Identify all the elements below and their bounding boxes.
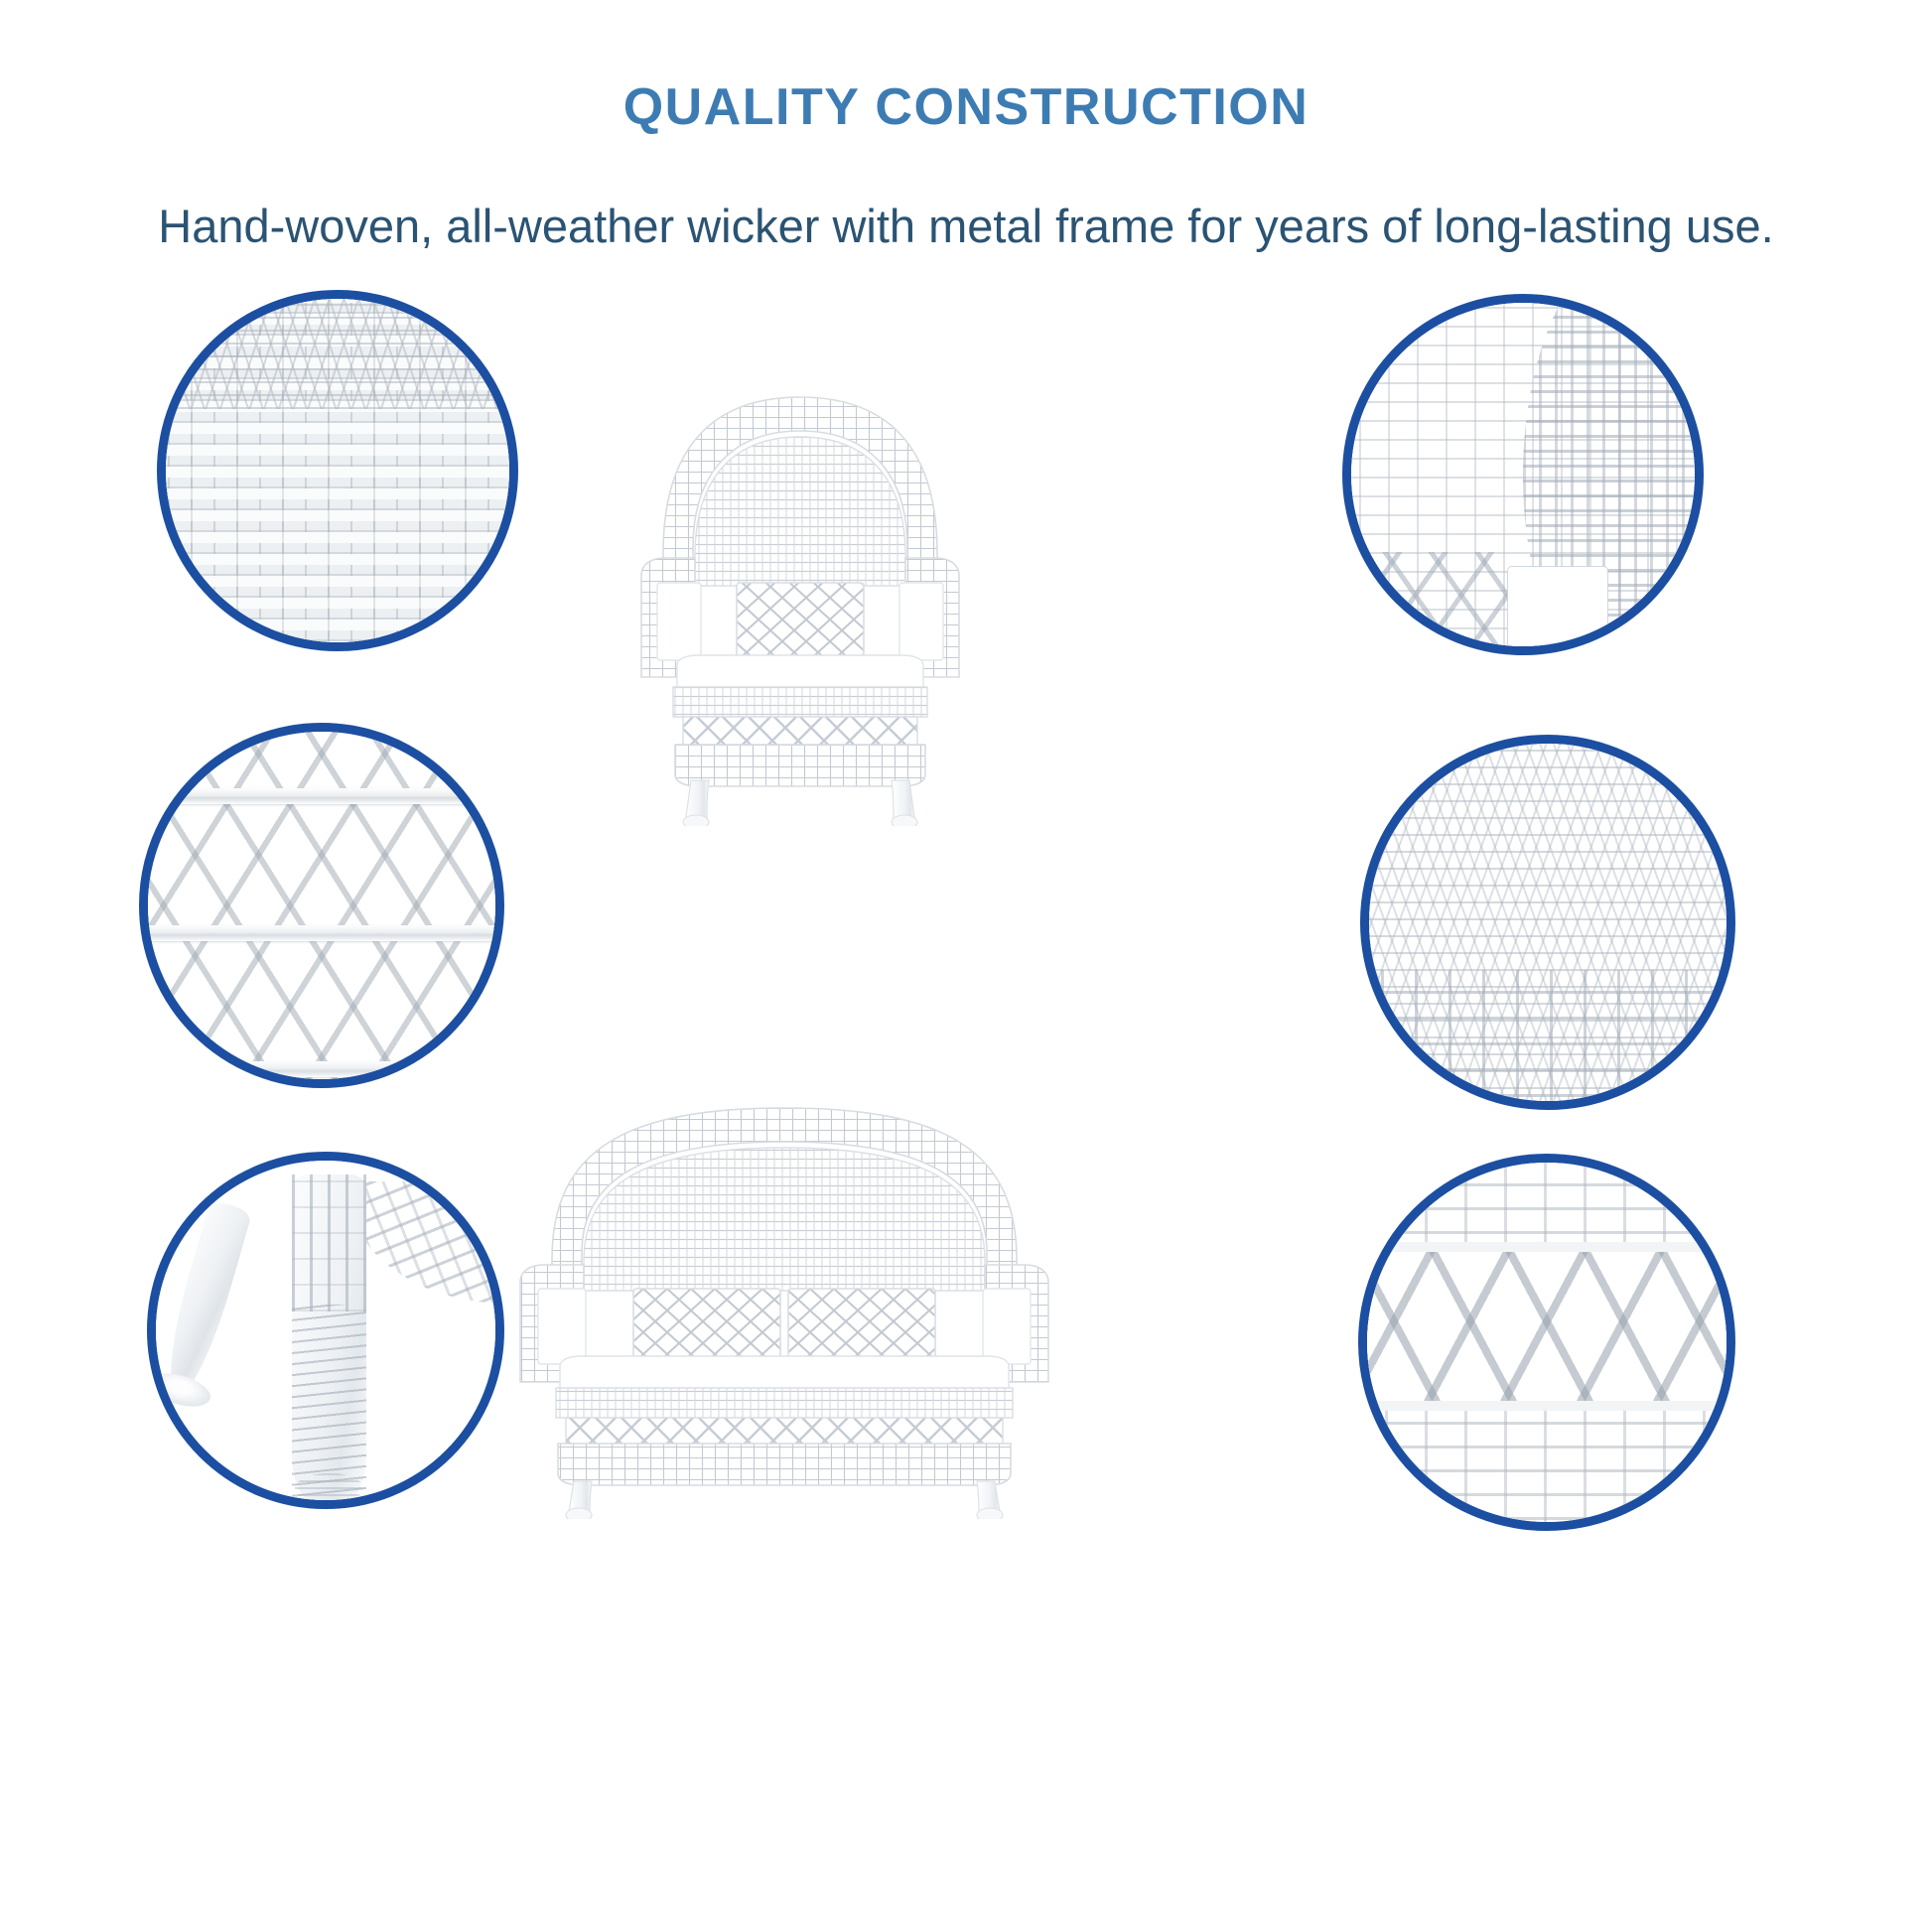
x-weave-open-band: [1358, 1242, 1735, 1411]
front-leg: [292, 1174, 366, 1500]
callout-x-weave-skirt-detail: [1358, 1154, 1735, 1531]
callout-herringbone-weave-detail: [1360, 735, 1735, 1110]
leg-upper-weave: [292, 1174, 366, 1311]
callout-chair-back-weave-detail: [1342, 294, 1704, 655]
lattice-rail-bottom: [139, 1061, 504, 1077]
product-image-wicker-armchair: [592, 379, 1009, 826]
weave-lower-band: [1360, 970, 1735, 1110]
lattice-rail-middle: [139, 925, 504, 941]
diamond-lattice-texture: [139, 723, 504, 1088]
herringbone-weave-texture: [1360, 735, 1735, 1110]
rear-leg: [157, 1199, 253, 1401]
page-title: QUALITY CONSTRUCTION: [0, 77, 1932, 137]
leg-detail-art: [156, 1161, 495, 1500]
callout-flat-basket-weave-detail: [157, 290, 518, 651]
lattice-rail-top: [139, 788, 504, 804]
header: QUALITY CONSTRUCTION Hand-woven, all-wea…: [0, 0, 1932, 253]
leg-ball-foot: [295, 1473, 362, 1504]
weave-top-band: [157, 290, 518, 409]
infographic-page: QUALITY CONSTRUCTION Hand-woven, all-wea…: [0, 0, 1932, 1932]
callout-leg-wrap-detail: [147, 1152, 504, 1509]
chair-back-texture: [1342, 294, 1704, 655]
leg-wrapped-wicker: [292, 1305, 366, 1500]
x-weave-texture: [1358, 1154, 1735, 1531]
chair-back-lattice: [1342, 552, 1515, 656]
chair-arm-cutout: [1508, 567, 1608, 655]
basket-weave-texture: [157, 290, 518, 651]
page-subtitle: Hand-woven, all-weather wicker with meta…: [0, 199, 1932, 253]
callout-diamond-lattice-detail: [139, 723, 504, 1088]
product-image-wicker-loveseat: [477, 1092, 1092, 1519]
loveseat-illustration: [477, 1092, 1092, 1519]
armchair-illustration: [592, 379, 1009, 826]
